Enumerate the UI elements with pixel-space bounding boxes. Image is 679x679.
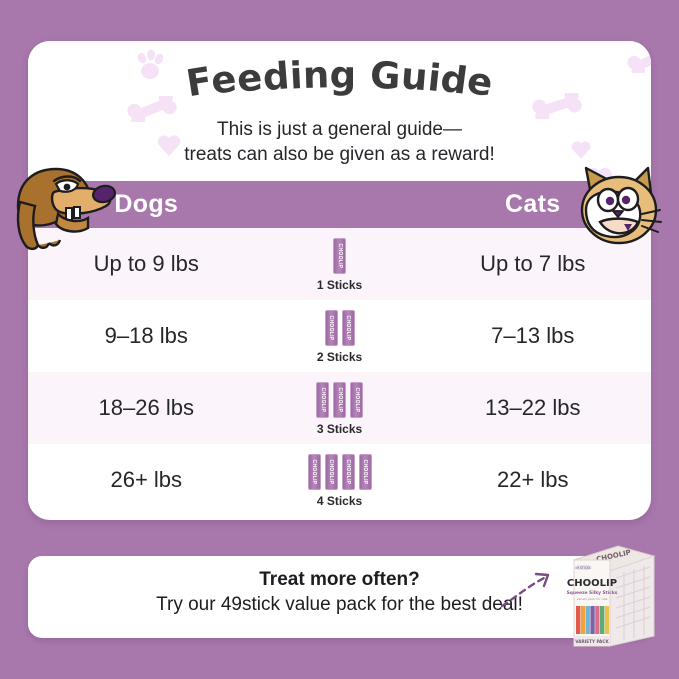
feeding-table-body: Up to 9 lbsCHOOLIP1 SticksUp to 7 lbs9–1… xyxy=(28,228,651,516)
treat-stick-icon: CHOOLIP xyxy=(333,238,346,274)
treat-stick-icon: CHOOLIP xyxy=(359,454,372,490)
column-header-cats: Cats xyxy=(415,190,652,219)
table-row: 9–18 lbsCHOOLIPCHOOLIP2 Sticks7–13 lbs xyxy=(28,300,651,372)
cat-weight-cell: Up to 7 lbs xyxy=(415,251,652,277)
svg-text:Squeeze Silky Sticks: Squeeze Silky Sticks xyxy=(567,590,618,596)
treat-stick-icon: CHOOLIP xyxy=(308,454,321,490)
treat-stick-icon: CHOOLIP xyxy=(350,382,363,418)
treat-stick-group: CHOOLIPCHOOLIPCHOOLIPCHOOLIP xyxy=(308,452,372,490)
svg-text:VARIETY PACK: VARIETY PACK xyxy=(575,639,609,644)
treat-stick-group: CHOOLIPCHOOLIPCHOOLIP xyxy=(316,380,363,418)
treat-stick-icon: CHOOLIP xyxy=(316,382,329,418)
treat-stick-brand-label: CHOOLIP xyxy=(345,460,351,485)
treat-stick-brand-label: CHOOLIP xyxy=(362,460,368,485)
heart-icon xyxy=(584,165,614,181)
treat-stick-brand-label: CHOOLIP xyxy=(328,460,334,485)
treat-stick-group: CHOOLIP xyxy=(333,236,346,274)
table-row: Up to 9 lbsCHOOLIP1 SticksUp to 7 lbs xyxy=(28,228,651,300)
stick-amount-cell: CHOOLIP1 Sticks xyxy=(265,236,415,292)
stick-count-label: 1 Sticks xyxy=(317,278,362,292)
svg-text:variety pack for cats: variety pack for cats xyxy=(577,597,608,601)
treat-stick-icon: CHOOLIP xyxy=(342,310,355,346)
stick-count-label: 2 Sticks xyxy=(317,350,362,364)
table-header-band: Dogs Cats xyxy=(28,181,651,228)
treat-stick-brand-label: CHOOLIP xyxy=(328,316,334,341)
column-header-dogs: Dogs xyxy=(28,190,265,219)
stick-amount-cell: CHOOLIPCHOOLIP2 Sticks xyxy=(265,308,415,364)
treat-stick-icon: CHOOLIP xyxy=(325,310,338,346)
treat-stick-icon: CHOOLIP xyxy=(333,382,346,418)
page-title-text: Feeding Guide xyxy=(186,57,494,100)
dog-weight-cell: 18–26 lbs xyxy=(28,395,265,421)
treat-stick-brand-label: CHOOLIP xyxy=(345,316,351,341)
treat-stick-icon: CHOOLIP xyxy=(325,454,338,490)
product-box-image: CHOOLIP 49 STICKS CHOOLIP Squeeze Silky … xyxy=(560,544,658,650)
page-subtitle-line2: treats can also be given as a reward! xyxy=(28,142,651,167)
dog-weight-cell: Up to 9 lbs xyxy=(28,251,265,277)
treat-stick-brand-label: CHOOLIP xyxy=(337,388,343,413)
page-subtitle-line1: This is just a general guide— xyxy=(28,117,651,142)
feeding-guide-card: Feeding Guide This is just a general gui… xyxy=(28,41,651,520)
svg-text:CHOOLIP: CHOOLIP xyxy=(567,578,617,589)
table-row: 26+ lbsCHOOLIPCHOOLIPCHOOLIPCHOOLIP4 Sti… xyxy=(28,444,651,516)
dog-weight-cell: 26+ lbs xyxy=(28,467,265,493)
treat-stick-brand-label: CHOOLIP xyxy=(320,388,326,413)
stick-amount-cell: CHOOLIPCHOOLIPCHOOLIPCHOOLIP4 Sticks xyxy=(265,452,415,508)
stick-count-label: 4 Sticks xyxy=(317,494,362,508)
treat-stick-brand-label: CHOOLIP xyxy=(337,244,343,269)
page-subtitle: This is just a general guide— treats can… xyxy=(28,117,651,167)
treat-stick-group: CHOOLIPCHOOLIP xyxy=(325,308,355,346)
cat-weight-cell: 22+ lbs xyxy=(415,467,652,493)
treat-stick-brand-label: CHOOLIP xyxy=(354,388,360,413)
curved-arrow-icon xyxy=(498,568,560,612)
stick-amount-cell: CHOOLIPCHOOLIPCHOOLIP3 Sticks xyxy=(265,380,415,436)
treat-stick-brand-label: CHOOLIP xyxy=(311,460,317,485)
cat-weight-cell: 13–22 lbs xyxy=(415,395,652,421)
svg-text:49 STICKS: 49 STICKS xyxy=(575,566,591,570)
dog-weight-cell: 9–18 lbs xyxy=(28,323,265,349)
cat-weight-cell: 7–13 lbs xyxy=(415,323,652,349)
page-title: Feeding Guide xyxy=(28,57,651,115)
table-row: 18–26 lbsCHOOLIPCHOOLIPCHOOLIP3 Sticks13… xyxy=(28,372,651,444)
card-header: Feeding Guide This is just a general gui… xyxy=(28,41,651,181)
treat-stick-icon: CHOOLIP xyxy=(342,454,355,490)
stick-count-label: 3 Sticks xyxy=(317,422,362,436)
